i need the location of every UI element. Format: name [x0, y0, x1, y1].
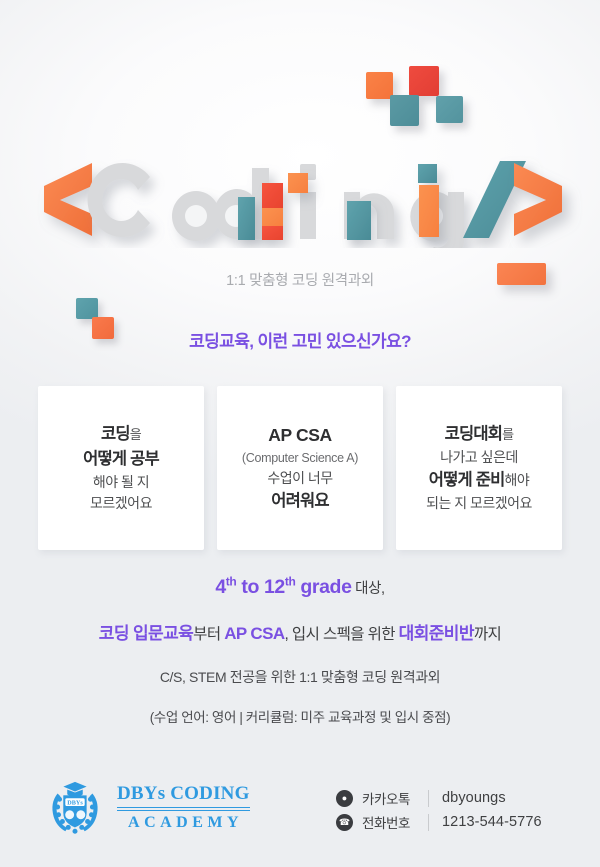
card3-line2: 나가고 싶은데	[440, 447, 518, 468]
card2-line4: 어려워요	[271, 489, 329, 514]
decor-cube-teal-top-a	[390, 95, 419, 126]
brand-line-1: DBYs CODING	[117, 783, 250, 805]
decor-cube-red-top	[409, 66, 439, 96]
promo-poster: 1:1 맞춤형 코딩 원격과외 코딩교육, 이런 고민 있으신가요? 코딩을 어…	[0, 0, 600, 867]
brand-lockup: DBYs DBYs CODING ACADEMY	[44, 776, 250, 838]
card1-line1-suffix: 을	[130, 427, 141, 442]
pain-point-cards: 코딩을 어떻게 공부 해야 될 지 모르겠어요 AP CSA (Computer…	[38, 386, 562, 550]
program-range-line: 코딩 입문교육부터 AP CSA, 입시 스펙을 위한 대회준비반까지	[0, 598, 600, 643]
card2-line1: AP CSA	[268, 422, 331, 449]
program-copy: 4th to 12th grade 대상, 코딩 입문교육부터 AP CSA, …	[0, 572, 600, 725]
phone-value[interactable]: 1213-544-5776	[442, 814, 542, 830]
kakaotalk-value[interactable]: dbyoungs	[442, 790, 506, 806]
brand-text: DBYs CODING ACADEMY	[117, 783, 250, 832]
grade-word: grade	[295, 576, 351, 598]
card3-line1-main: 코딩대회	[445, 425, 503, 443]
grade-mid: to	[236, 576, 264, 598]
phone-label: 전화번호	[362, 812, 424, 832]
grade-range-line: 4th to 12th grade 대상,	[0, 572, 600, 598]
hero-headline: 코딩교육, 이런 고민 있으신가요?	[0, 327, 600, 352]
decor-cube-teal-left	[76, 298, 98, 319]
card1-line1-main: 코딩	[101, 425, 130, 443]
card1-line2: 어떻게 공부	[83, 447, 159, 472]
card3-line3-suffix: 해야	[504, 472, 529, 488]
contact-divider-1	[428, 790, 429, 807]
note-line: (수업 언어: 영어 | 커리큘럼: 미주 교육과정 및 입시 중점)	[0, 684, 600, 725]
description-line: C/S, STEM 전공을 위한 1:1 맞춤형 코딩 원격과외	[0, 642, 600, 684]
contact-divider-2	[428, 814, 429, 831]
contact-row-kakaotalk[interactable]: ● 카카오톡 dbyoungs	[336, 786, 542, 810]
program-text-3: 까지	[474, 626, 501, 643]
card3-line1-suffix: 를	[502, 427, 513, 442]
card-ap-csa: AP CSA (Computer Science A) 수업이 너무 어려워요	[217, 386, 383, 550]
kakaotalk-icon: ●	[336, 790, 353, 807]
decor-cube-teal-top-b	[436, 96, 463, 123]
card1-line3: 해야 될 지	[93, 472, 149, 493]
phone-icon: ☎	[336, 814, 353, 831]
program-part-1: 코딩 입문교육	[99, 624, 193, 643]
program-part-3: 대회준비반	[399, 624, 474, 643]
grade-sup-1: th	[226, 575, 237, 589]
program-text-1: 부터	[193, 626, 224, 643]
brand-line-2: ACADEMY	[124, 814, 244, 832]
program-part-2: AP CSA	[224, 624, 284, 643]
crest-label: DBYs	[67, 800, 83, 807]
hero-subtitle: 1:1 맞춤형 코딩 원격과외	[0, 269, 600, 290]
card-study-method: 코딩을 어떻게 공부 해야 될 지 모르겠어요	[38, 386, 204, 550]
grade-ko: 대상,	[352, 581, 385, 597]
decor-cube-orange-top	[366, 72, 393, 99]
card2-line2: (Computer Science A)	[242, 449, 358, 468]
grade-num-2: 12	[264, 576, 285, 598]
grade-num-1: 4	[215, 576, 225, 598]
card3-line3-main: 어떻게 준비	[429, 471, 505, 489]
contact-row-phone[interactable]: ☎ 전화번호 1213-544-5776	[336, 810, 542, 834]
dbys-crest-logo: DBYs	[44, 776, 106, 838]
card-competition: 코딩대회를 나가고 싶은데 어떻게 준비해야 되는 지 모르겠어요	[396, 386, 562, 550]
card3-line4: 되는 지 모르겠어요	[426, 493, 532, 514]
contact-block: ● 카카오톡 dbyoungs ☎ 전화번호 1213-544-5776	[336, 786, 542, 834]
card2-line3: 수업이 너무	[267, 468, 332, 489]
grade-sup-2: th	[285, 575, 296, 589]
program-text-2: , 입시 스펙을 위한	[285, 626, 399, 643]
kakaotalk-label: 카카오톡	[362, 788, 424, 808]
brand-divider	[117, 807, 250, 811]
footer: DBYs DBYs CODING ACADEMY ● 카카오톡 dbyoungs…	[0, 770, 600, 867]
hero-wordmark	[0, 128, 600, 248]
card1-line4: 모르겠어요	[90, 493, 152, 514]
